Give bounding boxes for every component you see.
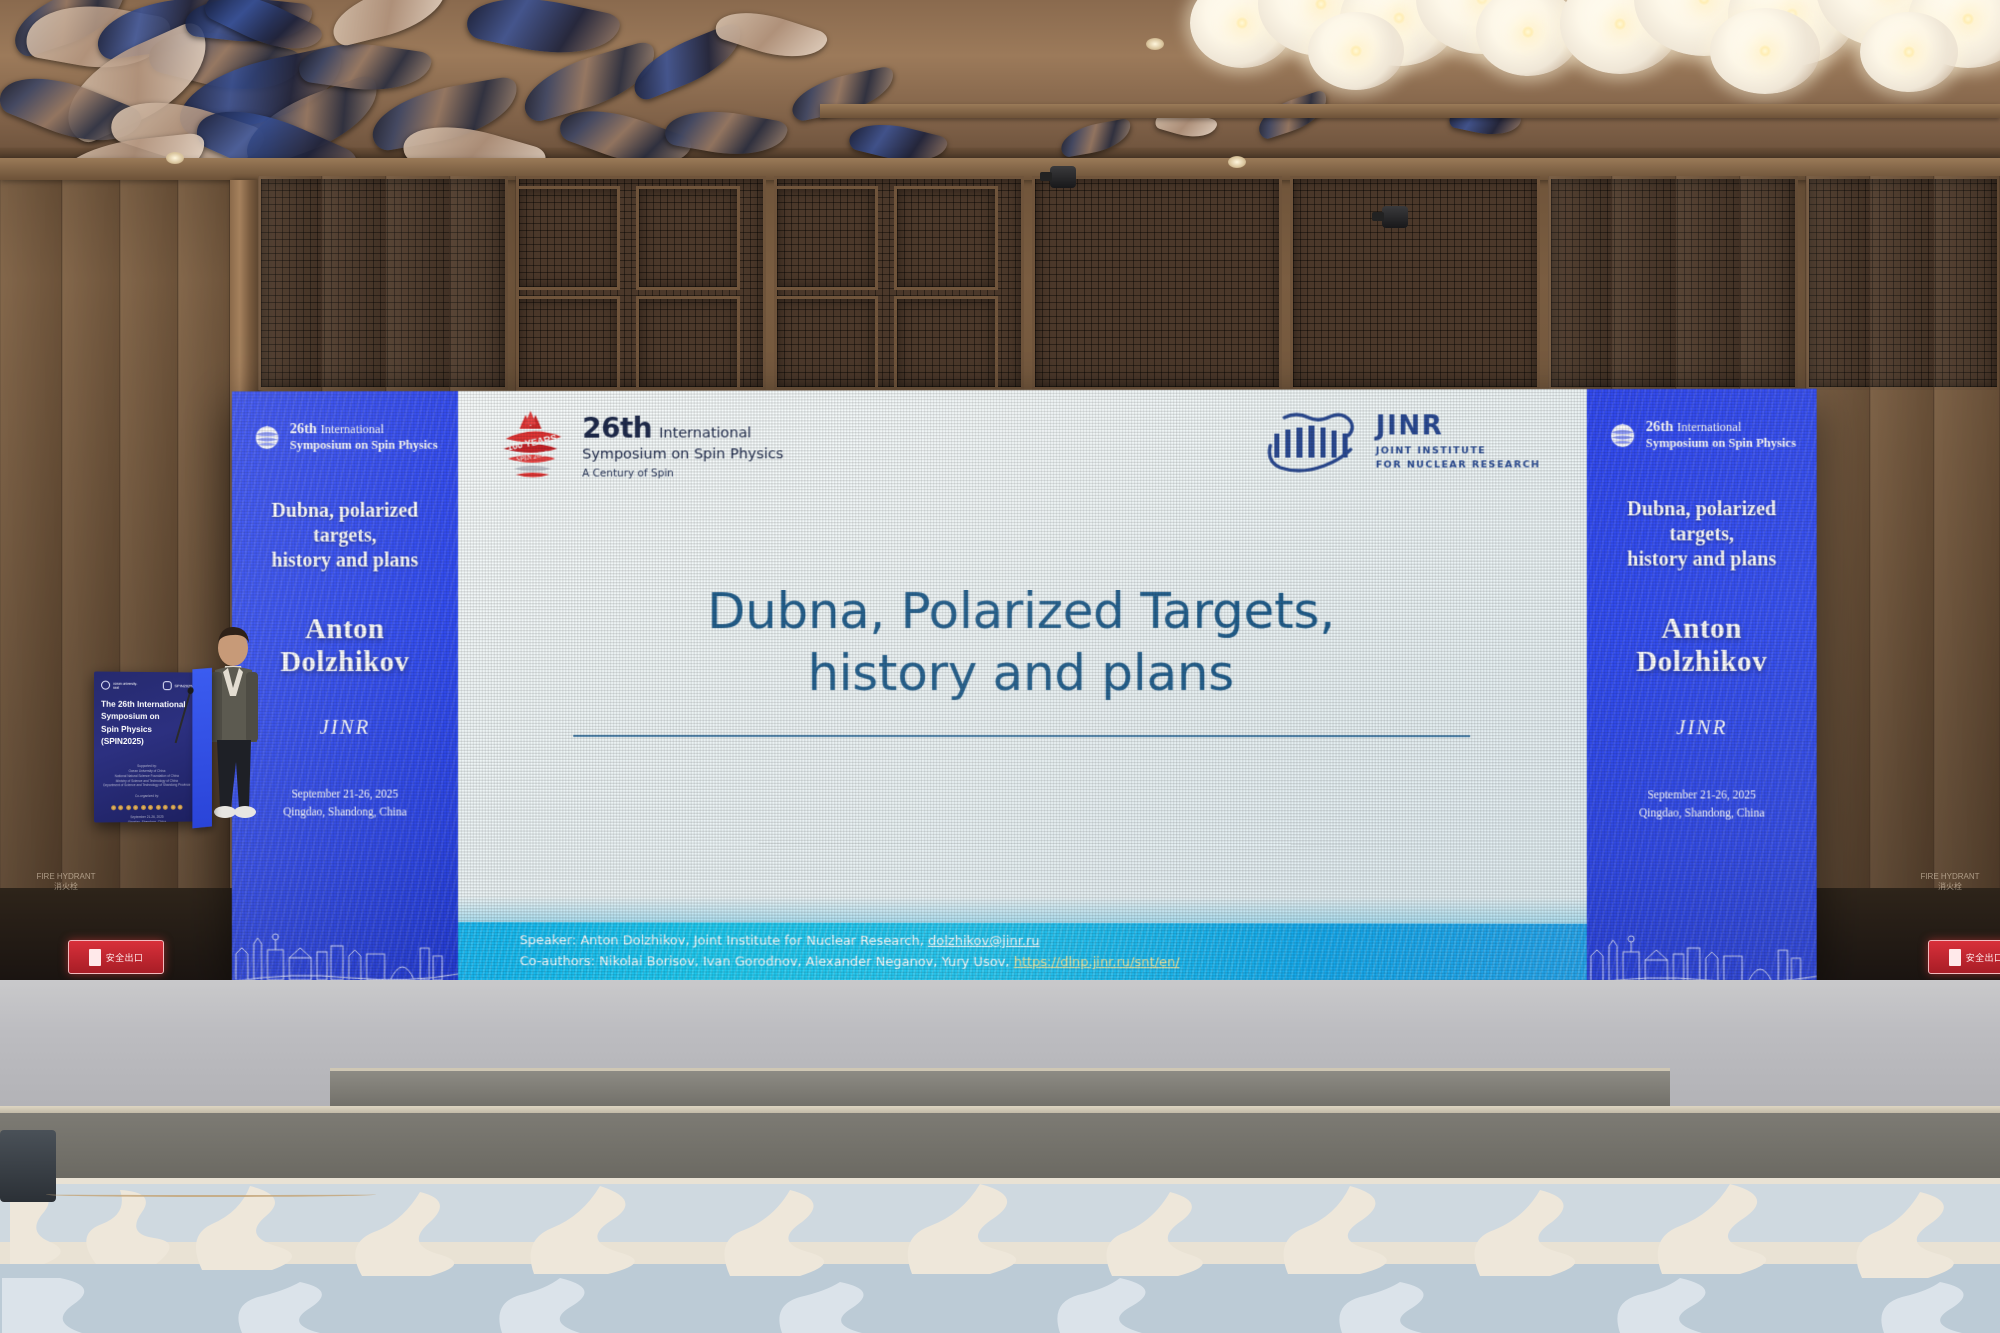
sp-org-right: JINR (1599, 715, 1805, 740)
carpet-floor (0, 1178, 2000, 1333)
spin2025-logo: 100 YEARS SPIN 2025 26th International S… (496, 408, 784, 482)
ceiling-spotlight (166, 152, 184, 164)
podium-title: The 26th International Symposium on Spin… (101, 699, 192, 748)
jinr-name: JINR (1376, 413, 1541, 439)
floor-speaker-monitor (0, 1130, 56, 1202)
exit-sign-label-cn: 安全出口 (106, 951, 144, 964)
sp-symposium-right: Symposium on Spin Physics (1646, 436, 1796, 451)
qingdao-skyline-icon (1587, 894, 1817, 987)
slide-header: 100 YEARS SPIN 2025 26th International S… (458, 389, 1587, 511)
wall-plate-left: FIRE HYDRANT 消火栓 (26, 872, 106, 898)
security-camera (1382, 206, 1408, 228)
sp-title-left: Dubna, polarized targets, history and pl… (244, 499, 446, 574)
conference-hall-photo: 安全出口 安全出口 FIRE HYDRANT 消火栓 FIRE HYDRANT … (0, 0, 2000, 1333)
slide-footer: Speaker: Anton Dolzhikov, Joint Institut… (458, 922, 1587, 986)
led-side-panel-right: 26th International Symposium on Spin Phy… (1587, 389, 1817, 987)
stage-front-trim (0, 1106, 2000, 1113)
sp-date-right: September 21-26, 2025 Qingdao, Shandong,… (1599, 786, 1805, 823)
ouc-seal-icon: ocean-university-seal (101, 681, 139, 690)
exit-sign-left: 安全出口 (68, 940, 164, 974)
slide-title-line1: Dubna, Polarized Targets, (458, 580, 1587, 643)
footer-speaker-line: Speaker: Anton Dolzhikov, Joint Institut… (520, 930, 1587, 953)
exit-sign-label-cn: 安全出口 (1966, 951, 2000, 964)
jinr-mark-icon (1262, 411, 1362, 473)
floor-cable (46, 1192, 376, 1197)
ceiling-spotlight (1146, 38, 1164, 50)
sp-26th-right: 26th (1646, 419, 1674, 435)
sp-intl-right: International (1677, 420, 1741, 434)
podium-coorg-caption: Co-organized by: (101, 794, 192, 799)
sp-date-left: September 21-26, 2025 Qingdao, Shandong,… (244, 785, 446, 822)
wall-plate-right: FIRE HYDRANT 消火栓 (1910, 872, 1990, 898)
footer-coauthors-text: Co-authors: Nikolai Borisov, Ivan Gorodn… (520, 954, 1014, 970)
spin2025-globe-icon (1607, 419, 1638, 450)
spin-logo-right: 26th International Symposium on Spin Phy… (1599, 419, 1805, 451)
podium-side-panel (192, 668, 212, 829)
qingdao-skyline-icon (232, 892, 458, 984)
sp-title-right: Dubna, polarized targets, history and pl… (1599, 497, 1805, 572)
podium-sponsor-dots (101, 805, 192, 811)
podium: ocean-university-seal SPIN2025 The 26th … (94, 671, 199, 822)
jinr-sub-line2: FOR NUCLEAR RESEARCH (1376, 458, 1541, 472)
security-camera (1050, 166, 1076, 188)
jinr-sub-line1: JOINT INSTITUTE (1376, 444, 1541, 458)
jinr-logo: JINR JOINT INSTITUTE FOR NUCLEAR RESEARC… (1262, 411, 1540, 474)
sp-symposium-left: Symposium on Spin Physics (290, 438, 438, 453)
stage-front-face (0, 1112, 2000, 1180)
slide-title: Dubna, Polarized Targets, history and pl… (458, 580, 1587, 704)
ceiling-spotlight (1228, 156, 1246, 168)
footer-speaker-text: Speaker: Anton Dolzhikov, Joint Institut… (520, 933, 928, 949)
sp-speaker-right: Anton Dolzhikov (1599, 613, 1805, 679)
title-underline (573, 735, 1470, 737)
spin-symposium: Symposium on Spin Physics (582, 446, 783, 465)
spin2025-100years-icon: 100 YEARS SPIN 2025 (496, 409, 570, 483)
exit-sign-right: 安全出口 (1928, 940, 2000, 974)
paper-flower-chandelier (1180, 0, 1580, 90)
podium-support-text: Supported by: Ocean University of China … (101, 764, 192, 788)
spin2025-globe-icon (252, 422, 283, 453)
footer-speaker-email[interactable]: dolzhikov@jinr.ru (928, 934, 1039, 949)
spin-logo-left: 26th International Symposium on Spin Phy… (244, 421, 446, 453)
paper-flower-chandelier (1560, 0, 2000, 88)
podium-banner: ocean-university-seal SPIN2025 The 26th … (94, 671, 199, 822)
slide-title-line2: history and plans (458, 642, 1587, 704)
slide-footer-fade (458, 896, 1587, 924)
presentation-slide[interactable]: 100 YEARS SPIN 2025 26th International S… (458, 389, 1587, 986)
led-video-wall[interactable]: 26th International Symposium on Spin Phy… (232, 389, 1817, 987)
spin-26th: 26th (582, 410, 652, 446)
exit-door-icon (89, 949, 101, 966)
footer-coauthors-line: Co-authors: Nikolai Borisov, Ivan Gorodn… (520, 951, 1587, 974)
sp-intl-left: International (321, 422, 384, 436)
ceiling-trim-band (820, 104, 2000, 118)
exit-door-icon (1949, 949, 1961, 966)
podium-logo-left-label: ocean-university-seal (113, 681, 139, 689)
footer-coauthors-url[interactable]: https://dlnp.jinr.ru/snt/en/ (1014, 955, 1180, 970)
sp-speaker-left: Anton Dolzhikov (244, 613, 446, 679)
sp-org-left: JINR (244, 715, 446, 740)
spin-tagline: A Century of Spin (582, 467, 783, 481)
spin-international: International (659, 424, 751, 443)
carpet-pattern (0, 1178, 2000, 1333)
podium-date-text: September 21-26, 2025 Qingdao, Shandong,… (101, 815, 192, 823)
sp-26th-left: 26th (290, 421, 317, 437)
